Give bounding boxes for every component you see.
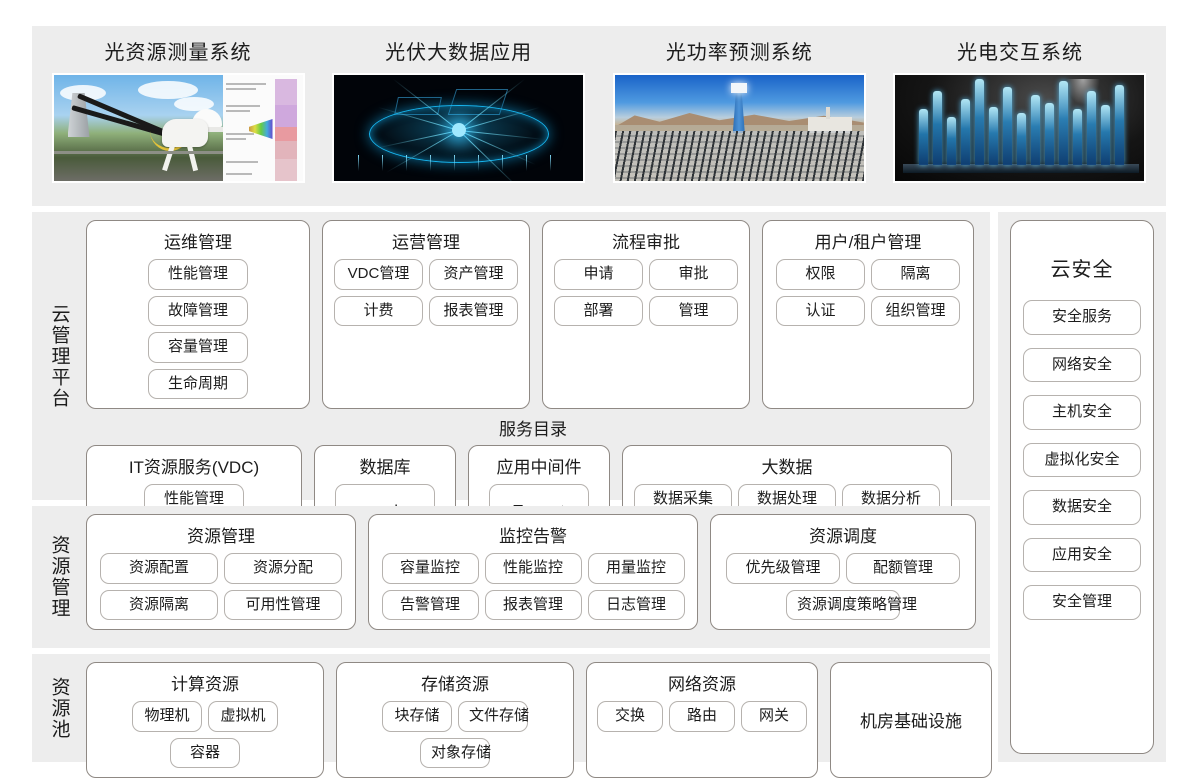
chip-item[interactable]: 权限 — [776, 259, 865, 290]
group-process-approval[interactable]: 流程审批 申请 审批 部署 管理 — [542, 220, 750, 409]
group-title: 存储资源 — [421, 670, 489, 695]
group-title: IT资源服务(VDC) — [129, 453, 259, 478]
chip-item[interactable]: 应用安全 — [1023, 538, 1141, 573]
solar-tracker-photo-thumbnail — [52, 73, 305, 183]
chip-item[interactable]: 隔离 — [871, 259, 960, 290]
chip-item[interactable]: 容量管理 — [148, 332, 248, 363]
chip-list: 物理机 虚拟机 容器 — [97, 701, 313, 768]
chip-item[interactable]: 容量监控 — [382, 553, 479, 584]
chip-item[interactable]: 审批 — [649, 259, 738, 290]
chip-item[interactable]: 资源分配 — [224, 553, 342, 584]
chip-list: 优先级管理 配额管理 资源调度策略管理 — [721, 553, 965, 620]
group-title: 计算资源 — [171, 670, 239, 695]
chip-item[interactable]: 网络安全 — [1023, 348, 1141, 383]
group-datacenter-infrastructure[interactable]: 机房基础设施 — [830, 662, 992, 778]
application-card-4[interactable]: 光电交互系统 — [886, 36, 1154, 183]
chip-item[interactable]: 主机安全 — [1023, 395, 1141, 430]
chip-item[interactable]: 资源配置 — [100, 553, 218, 584]
group-title: 监控告警 — [499, 522, 567, 547]
resource-management-layer: 资源管理 资源管理 资源配置 资源分配 资源隔离 可用性管理 监控告警 容量监控 — [32, 506, 990, 648]
chip-item[interactable]: 部署 — [554, 296, 643, 327]
group-title: 流程审批 — [612, 228, 680, 253]
group-title: 机房基础设施 — [860, 707, 962, 732]
cloud-platform-top-row: 运维管理 性能管理 故障管理 容量管理 生命周期 运营管理 VDC管理 资产管理… — [86, 220, 980, 409]
group-compute-resource[interactable]: 计算资源 物理机 虚拟机 容器 — [86, 662, 324, 778]
chip-item[interactable]: 资产管理 — [429, 259, 518, 290]
chip-item[interactable]: 性能监控 — [485, 553, 582, 584]
application-card-1[interactable]: 光资源测量系统 — [44, 36, 312, 183]
resource-pool-body: 计算资源 物理机 虚拟机 容器 存储资源 块存储 文件存储 对象存储 — [86, 654, 1002, 762]
chip-item[interactable]: 数据安全 — [1023, 490, 1141, 525]
group-ops-management[interactable]: 运维管理 性能管理 故障管理 容量管理 生命周期 — [86, 220, 310, 409]
chip-item[interactable]: 配额管理 — [846, 553, 960, 584]
chip-list: 权限 隔离 认证 组织管理 — [773, 259, 963, 326]
group-title: 网络资源 — [668, 670, 736, 695]
chip-item[interactable]: 虚拟机 — [208, 701, 278, 732]
resource-management-body: 资源管理 资源配置 资源分配 资源隔离 可用性管理 监控告警 容量监控 性能监控… — [86, 506, 990, 648]
chip-list: 性能管理 故障管理 容量管理 生命周期 — [97, 259, 299, 399]
chip-item[interactable]: 安全管理 — [1023, 585, 1141, 620]
chip-list: 交换 路由 网关 — [597, 701, 807, 732]
chip-item[interactable]: 报表管理 — [429, 296, 518, 327]
group-title: 用户/租户管理 — [815, 228, 922, 253]
chip-item[interactable]: 组织管理 — [871, 296, 960, 327]
chip-list: 块存储 文件存储 对象存储 — [347, 701, 563, 768]
group-title: 大数据 — [762, 453, 813, 478]
chip-item[interactable]: 用量监控 — [588, 553, 685, 584]
tracker-photo — [54, 75, 223, 181]
solar-thermal-field-photo-thumbnail — [613, 73, 866, 183]
blue-data-visualization-thumbnail — [332, 73, 585, 183]
application-card-2[interactable]: 光伏大数据应用 — [325, 36, 593, 183]
group-operation-management[interactable]: 运营管理 VDC管理 资产管理 计费 报表管理 — [322, 220, 530, 409]
group-monitoring-alarm[interactable]: 监控告警 容量监控 性能监控 用量监控 告警管理 报表管理 日志管理 — [368, 514, 698, 630]
chip-list: VDC管理 资产管理 计费 报表管理 — [333, 259, 519, 326]
chip-item[interactable]: 路由 — [669, 701, 735, 732]
group-title: 资源调度 — [809, 522, 877, 547]
chip-item[interactable]: VDC管理 — [334, 259, 423, 290]
application-title: 光电交互系统 — [957, 36, 1083, 65]
chip-item[interactable]: 计费 — [334, 296, 423, 327]
chip-item[interactable]: 文件存储 — [458, 701, 528, 732]
chip-item[interactable]: 优先级管理 — [726, 553, 840, 584]
group-title: 数据库 — [360, 453, 411, 478]
service-catalog-title: 服务目录 — [86, 415, 980, 440]
application-card-3[interactable]: 光功率预测系统 — [605, 36, 873, 183]
cloud-security-title: 云安全 — [1051, 253, 1114, 282]
group-title: 资源管理 — [187, 522, 255, 547]
group-network-resource[interactable]: 网络资源 交换 路由 网关 — [586, 662, 818, 778]
resource-management-row: 资源管理 资源配置 资源分配 资源隔离 可用性管理 监控告警 容量监控 性能监控… — [86, 514, 980, 630]
chip-item[interactable]: 报表管理 — [485, 590, 582, 621]
chip-item[interactable]: 虚拟化安全 — [1023, 443, 1141, 478]
group-title: 运维管理 — [164, 228, 232, 253]
chip-item[interactable]: 告警管理 — [382, 590, 479, 621]
chip-list: 申请 审批 部署 管理 — [553, 259, 739, 326]
spectrum-chart-image — [223, 75, 303, 181]
group-resource-management[interactable]: 资源管理 资源配置 资源分配 资源隔离 可用性管理 — [86, 514, 356, 630]
chip-item[interactable]: 管理 — [649, 296, 738, 327]
chip-item[interactable]: 交换 — [597, 701, 663, 732]
cloud-security-band: 云安全 安全服务 网络安全 主机安全 虚拟化安全 数据安全 应用安全 安全管理 — [998, 212, 1166, 762]
chip-item[interactable]: 认证 — [776, 296, 865, 327]
chip-item[interactable]: 资源隔离 — [100, 590, 218, 621]
application-title: 光伏大数据应用 — [385, 36, 532, 65]
group-user-tenant-management[interactable]: 用户/租户管理 权限 隔离 认证 组织管理 — [762, 220, 974, 409]
chip-item[interactable]: 性能管理 — [148, 259, 248, 290]
chip-item[interactable]: 日志管理 — [588, 590, 685, 621]
chip-item[interactable]: 块存储 — [382, 701, 452, 732]
chip-item[interactable]: 生命周期 — [148, 369, 248, 400]
cloud-security-panel[interactable]: 云安全 安全服务 网络安全 主机安全 虚拟化安全 数据安全 应用安全 安全管理 — [1010, 220, 1154, 754]
chip-list: 资源配置 资源分配 资源隔离 可用性管理 — [97, 553, 345, 620]
group-storage-resource[interactable]: 存储资源 块存储 文件存储 对象存储 — [336, 662, 574, 778]
layer-label-resource-management: 资源管理 — [32, 506, 86, 648]
chip-item[interactable]: 资源调度策略管理 — [786, 590, 900, 621]
cloud-platform-body: 运维管理 性能管理 故障管理 容量管理 生命周期 运营管理 VDC管理 资产管理… — [86, 212, 990, 500]
chip-item[interactable]: 物理机 — [132, 701, 202, 732]
chip-list: 容量监控 性能监控 用量监控 告警管理 报表管理 日志管理 — [379, 553, 687, 620]
applications-band: 光资源测量系统 — [32, 26, 1166, 206]
application-title: 光功率预测系统 — [666, 36, 813, 65]
blue-light-tubes-photo-thumbnail — [893, 73, 1146, 183]
application-title: 光资源测量系统 — [105, 36, 252, 65]
cloud-management-platform-layer: 云管理平台 运维管理 性能管理 故障管理 容量管理 生命周期 运营管理 VDC管… — [32, 212, 990, 500]
chip-item[interactable]: 对象存储 — [420, 738, 490, 769]
layer-label-resource-pool: 资源池 — [32, 654, 86, 762]
chip-item[interactable]: 申请 — [554, 259, 643, 290]
chip-item[interactable]: 网关 — [741, 701, 807, 732]
chip-item[interactable]: 故障管理 — [148, 296, 248, 327]
layer-label-cloud-platform: 云管理平台 — [32, 212, 86, 500]
architecture-diagram: 光资源测量系统 — [0, 0, 1200, 781]
chip-item[interactable]: 安全服务 — [1023, 300, 1141, 335]
group-title: 应用中间件 — [497, 453, 582, 478]
group-resource-scheduling[interactable]: 资源调度 优先级管理 配额管理 资源调度策略管理 — [710, 514, 976, 630]
chip-item[interactable]: 可用性管理 — [224, 590, 342, 621]
resource-pool-layer: 资源池 计算资源 物理机 虚拟机 容器 存储资源 块存储 文件存储 — [32, 654, 990, 762]
group-title: 运营管理 — [392, 228, 460, 253]
resource-pool-row: 计算资源 物理机 虚拟机 容器 存储资源 块存储 文件存储 对象存储 — [86, 662, 992, 778]
chip-item[interactable]: 容器 — [170, 738, 240, 769]
